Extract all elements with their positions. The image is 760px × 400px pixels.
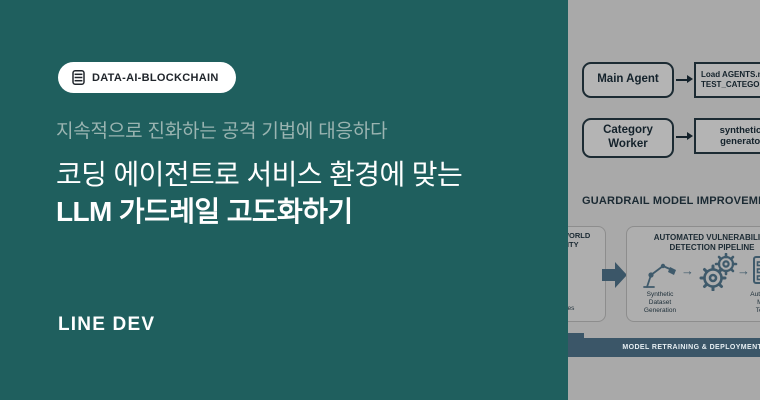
gears-icon [699,253,739,291]
page-title-line1: 코딩 에이전트로 서비스 환경에 맞는 [56,159,462,190]
connector-arrowhead [687,132,693,140]
page-title-line2: LLM 가드레일 고도화하기 [56,193,462,230]
diversity-heading: REAL-WORLD DIVERSITY [568,231,609,250]
robot-arm-icon [643,259,677,289]
diagram-inner: Main Agent Load AGENTS.md TEST_CATEGORIE… [568,0,760,400]
diagram-box-synthetic-generator: synthetic- generator [694,118,760,154]
clipboard-search-icon [751,255,760,289]
hero-subtitle: 지속적으로 진화하는 공격 기법에 대응하다 [56,116,387,143]
diagram-panel: Main Agent Load AGENTS.md TEST_CATEGORIE… [568,0,760,400]
diagram-box-category-worker: Category Worker [582,118,674,158]
diagram-box-label: Load AGENTS.md TEST_CATEGORIES [701,70,760,89]
category-badge-label: DATA-AI-BLOCKCHAIN [92,72,219,84]
brand-logo: LINE DEV [58,314,155,336]
thick-arrow-icon [602,262,628,288]
diagram-box-label: Main Agent [597,73,659,87]
hero-panel: DATA-AI-BLOCKCHAIN 지속적으로 진화하는 공격 기법에 대응하… [0,0,568,400]
diagram-box-main-agent: Main Agent [582,62,674,98]
pipeline-stage-label: Synthetic Dataset Generation [633,291,687,315]
loop-bar-label: MODEL RETRAINING & DEPLOYMENT LOOP [622,344,760,351]
pipeline-heading: AUTOMATED VULNERABILITY DETECTION PIPELI… [627,233,760,254]
diagram-box-label: synthetic- generator [720,125,760,148]
pipeline-step-arrow: → [681,263,694,278]
diagram-section-title: GUARDRAIL MODEL IMPROVEMENT [582,195,760,207]
diagram-box-load-agents: Load AGENTS.md TEST_CATEGORIES [694,62,760,98]
page-title: 코딩 에이전트로 서비스 환경에 맞는 LLM 가드레일 고도화하기 [56,156,462,230]
database-icon [72,70,85,85]
category-badge[interactable]: DATA-AI-BLOCKCHAIN [58,62,236,93]
connector-arrowhead [687,75,693,83]
slide-canvas: Main Agent Load AGENTS.md TEST_CATEGORIE… [0,0,760,400]
diagram-box-label: Category Worker [603,124,653,152]
pipeline-stage-label: Automated Model Testing [739,291,760,315]
diagram-pipeline-box: AUTOMATED VULNERABILITY DETECTION PIPELI… [626,226,760,322]
loop-bar: MODEL RETRAINING & DEPLOYMENT LOOP [568,338,760,357]
pipeline-step-arrow: → [737,263,750,278]
